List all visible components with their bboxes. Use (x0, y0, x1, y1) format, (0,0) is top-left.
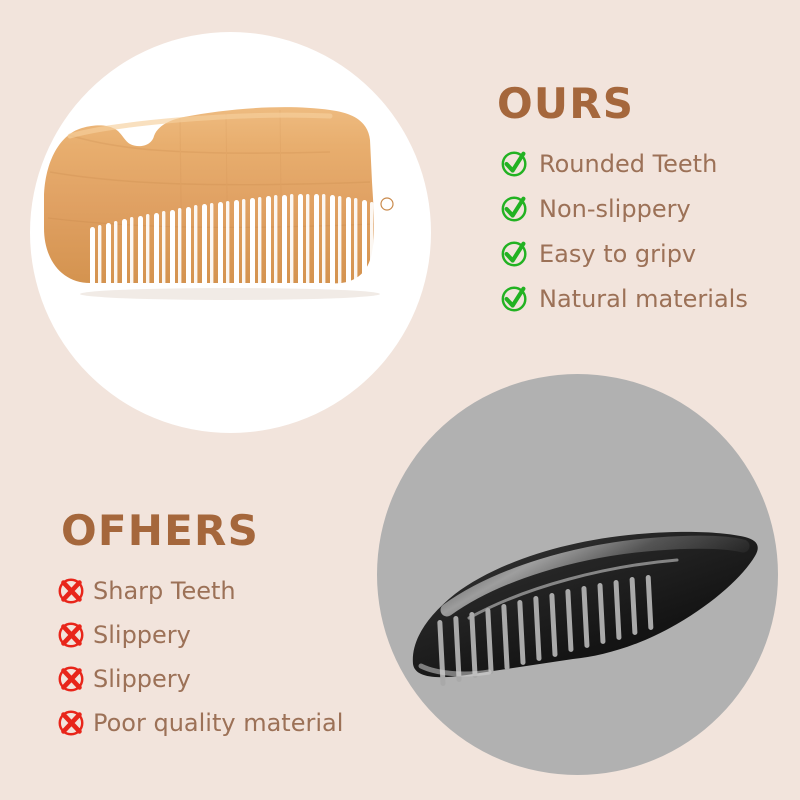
cross-circle-icon (56, 576, 86, 606)
others-product-photo (377, 374, 778, 775)
list-item-label: Slippery (93, 623, 191, 647)
ours-feature-list: Rounded Teeth Non-slippery Easy to gripv… (500, 141, 748, 321)
check-circle-icon (500, 194, 530, 224)
list-item-label: Rounded Teeth (539, 152, 717, 176)
list-item: Sharp Teeth (56, 569, 343, 613)
check-circle-icon (500, 149, 530, 179)
cross-circle-icon (56, 708, 86, 738)
list-item: Non-slippery (500, 186, 748, 231)
wooden-comb-illustration (30, 32, 431, 433)
comb-shadow (80, 288, 380, 300)
list-item: Poor quality material (56, 701, 343, 745)
list-item: Rounded Teeth (500, 141, 748, 186)
list-item-label: Poor quality material (93, 711, 343, 735)
list-item: Easy to gripv (500, 231, 748, 276)
infographic-canvas: OURS Rounded Teeth Non-slippery Easy to … (0, 0, 800, 800)
cross-circle-icon (56, 620, 86, 650)
list-item-label: Non-slippery (539, 197, 691, 221)
list-item-label: Sharp Teeth (93, 579, 236, 603)
check-circle-icon (500, 239, 530, 269)
list-item-label: Easy to gripv (539, 242, 696, 266)
list-item: Slippery (56, 657, 343, 701)
ours-product-photo (30, 32, 431, 433)
horn-comb-illustration (377, 374, 778, 775)
others-heading: OFHERS (61, 506, 259, 555)
list-item-label: Slippery (93, 667, 191, 691)
ours-heading: OURS (497, 79, 634, 128)
list-item: Slippery (56, 613, 343, 657)
list-item-label: Natural materials (539, 287, 748, 311)
cross-circle-icon (56, 664, 86, 694)
list-item: Natural materials (500, 276, 748, 321)
check-circle-icon (500, 284, 530, 314)
others-feature-list: Sharp Teeth Slippery Slippery Poor quali… (56, 569, 343, 745)
